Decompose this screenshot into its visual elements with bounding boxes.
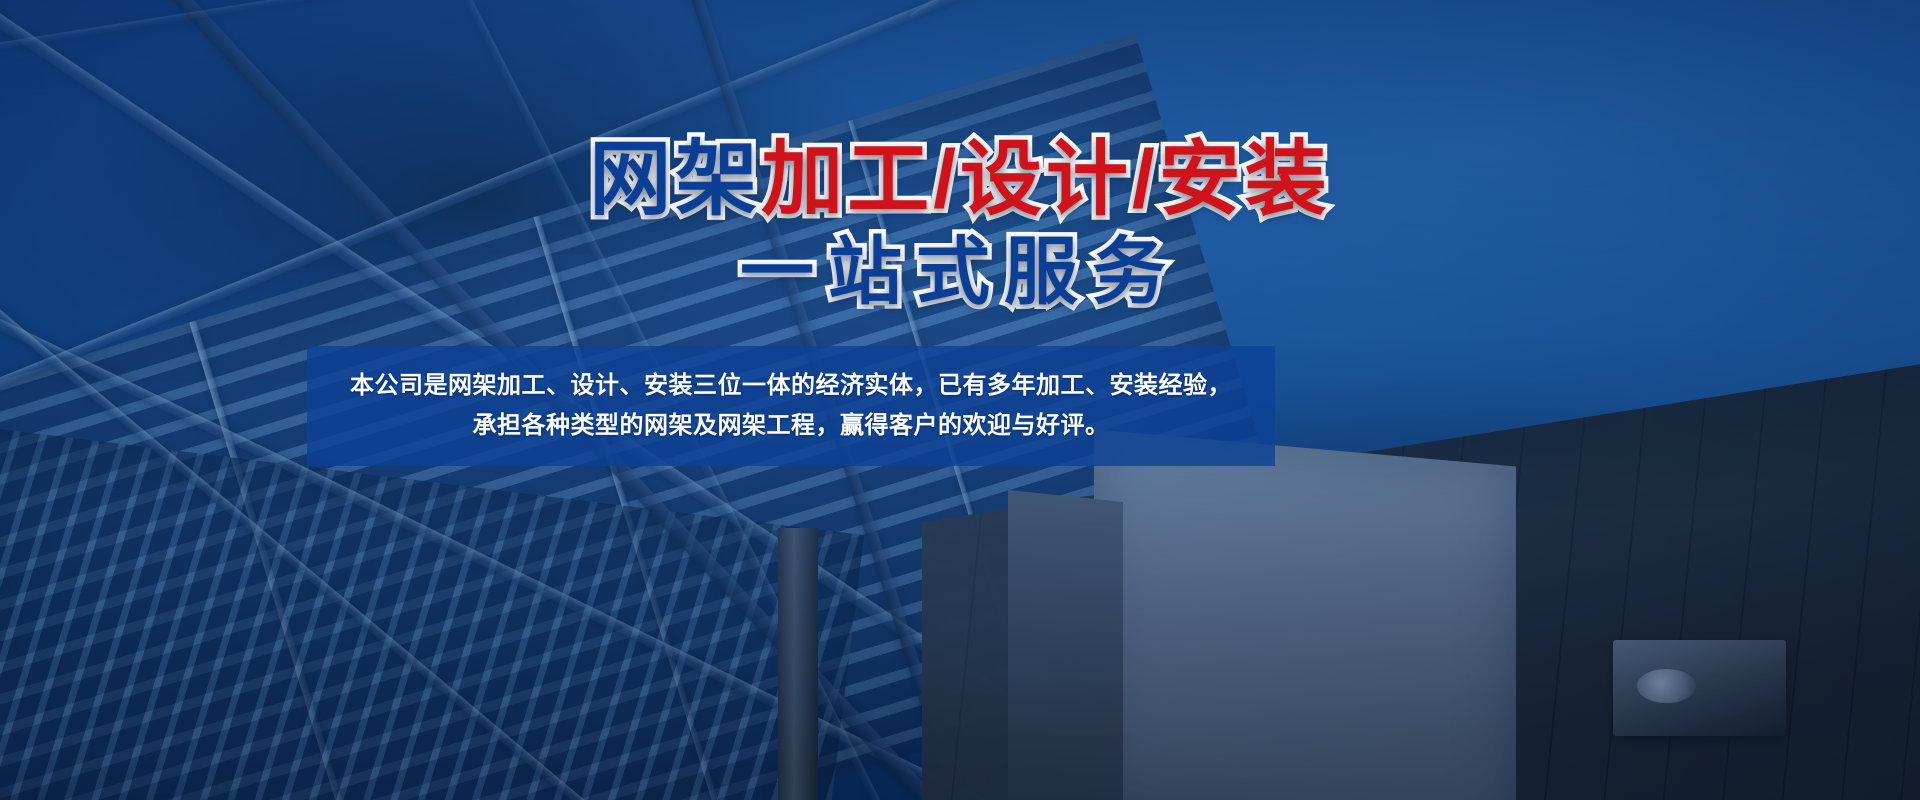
headline-line-2-text: 一站式服务 <box>740 235 1180 309</box>
description-panel: 本公司是网架加工、设计、安装三位一体的经济实体，已有多年加工、安装经验，承担各种… <box>307 346 1275 466</box>
headline-block: 网架加工/设计/安装 一站式服务 <box>0 139 1920 309</box>
headline-line-2: 一站式服务 <box>0 235 1920 309</box>
headline-segment-red: 加工/设计/安装 <box>761 139 1331 221</box>
headline-segment-blue: 网架 <box>589 139 761 221</box>
headline-line-1: 网架加工/设计/安装 <box>0 139 1920 221</box>
description-text: 本公司是网架加工、设计、安装三位一体的经济实体，已有多年加工、安装经验，承担各种… <box>343 366 1239 446</box>
description-line-1: 本公司是网架加工、设计、安装三位一体的经济实体，已有多年加工、安装经 <box>350 372 1183 399</box>
promo-banner: 网架加工/设计/安装 一站式服务 本公司是网架加工、设计、安装三位一体的经济实体… <box>0 0 1920 800</box>
